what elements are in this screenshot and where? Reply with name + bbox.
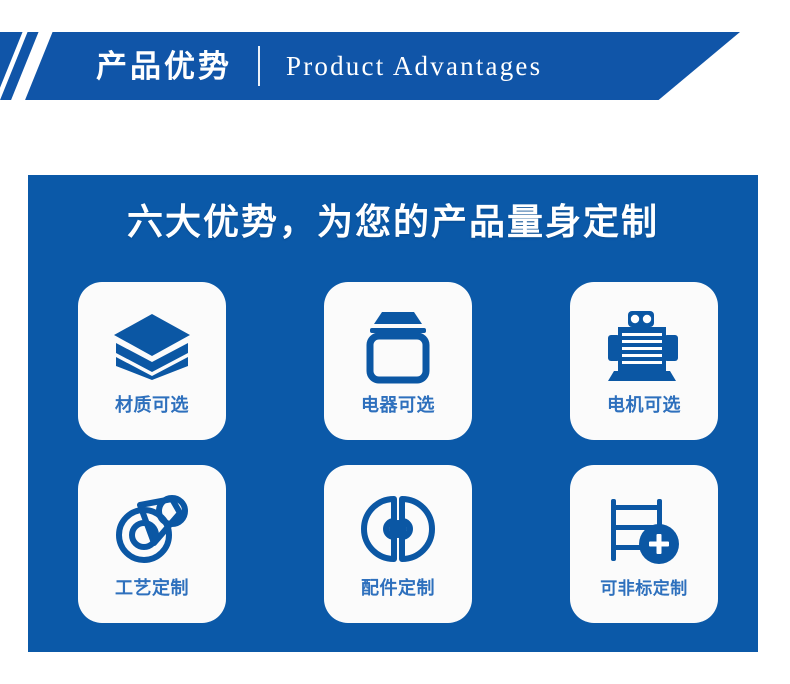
product-advantages-page: 产品优势 Product Advantages 六大优势，为您的产品量身定制 材… (0, 0, 790, 684)
advantage-card-material[interactable]: 材质可选 (78, 282, 226, 440)
rack-plus-icon (603, 487, 685, 573)
advantages-panel: 六大优势，为您的产品量身定制 材质可选 (28, 175, 758, 652)
advantage-card-label: 电机可选 (607, 397, 681, 415)
split-impeller-icon (358, 486, 438, 572)
advantage-card-grid: 材质可选 电器可选 (78, 282, 718, 623)
banner-title-chinese: 产品优势 (96, 51, 232, 82)
advantage-card-label: 电器可选 (361, 397, 435, 415)
panel-heading: 六大优势，为您的产品量身定制 (28, 204, 758, 240)
advantage-card-motor[interactable]: 电机可选 (570, 282, 718, 440)
banner-divider (258, 46, 260, 86)
advantage-card-label: 可非标定制 (600, 581, 688, 598)
advantage-card-nonstandard[interactable]: 可非标定制 (570, 465, 718, 623)
advantage-card-accessory[interactable]: 配件定制 (324, 465, 472, 623)
advantage-card-label: 工艺定制 (115, 580, 189, 598)
layers-stack-icon (110, 303, 194, 389)
header-banner: 产品优势 Product Advantages (0, 32, 740, 100)
advantage-card-label: 材质可选 (115, 397, 189, 415)
electrical-box-icon (358, 303, 438, 389)
banner-title-english: Product Advantages (286, 53, 542, 80)
advantage-card-label: 配件定制 (361, 580, 435, 598)
belt-pulley-icon (110, 486, 194, 572)
electric-motor-icon (600, 303, 688, 389)
advantage-card-process[interactable]: 工艺定制 (78, 465, 226, 623)
advantage-card-electrical[interactable]: 电器可选 (324, 282, 472, 440)
